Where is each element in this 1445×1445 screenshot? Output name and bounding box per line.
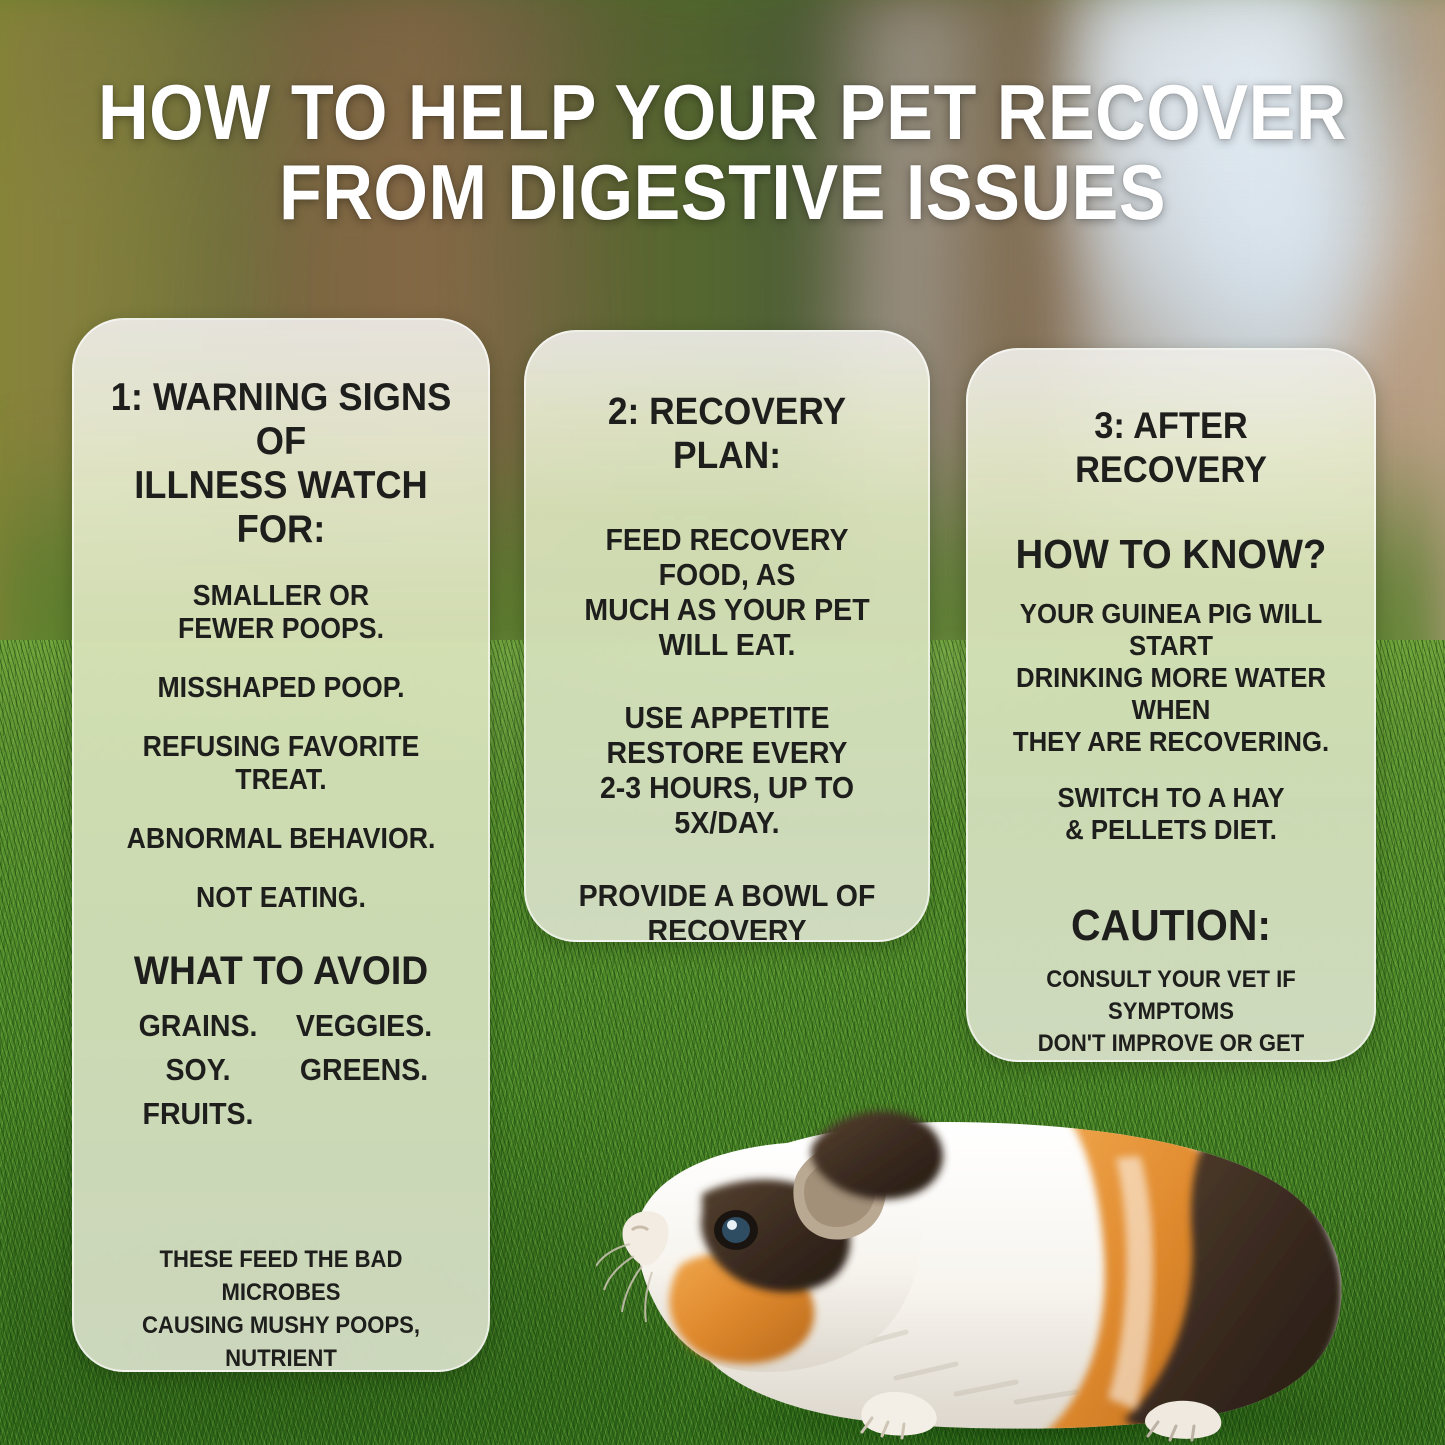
card-1-bullet-list: SMALLER OR FEWER POOPS. MISSHAPED POOP. … — [92, 580, 470, 915]
avoid-item: GRAINS. — [124, 1005, 271, 1047]
card-3-bullet-list: YOUR GUINEA PIG WILL START DRINKING MORE… — [986, 598, 1356, 846]
pig-eye-highlight — [727, 1220, 737, 1230]
avoid-item: VEGGIES. — [290, 1005, 437, 1047]
card-3-heading: 3: AFTER RECOVERY — [999, 404, 1343, 492]
list-item: SWITCH TO A HAY & PELLETS DIET. — [1001, 782, 1341, 846]
card-warning-signs: 1: WARNING SIGNS OF ILLNESS WATCH FOR: S… — [72, 318, 490, 1372]
card-2-bullet-list: FEED RECOVERY FOOD, AS MUCH AS YOUR PET … — [544, 522, 910, 942]
card-recovery-plan: 2: RECOVERY PLAN: FEED RECOVERY FOOD, AS… — [524, 330, 930, 942]
list-item: FEED RECOVERY FOOD, AS MUCH AS YOUR PET … — [559, 522, 896, 662]
list-item: NOT EATING. — [107, 882, 455, 915]
page-title-line-1: HOW TO HELP YOUR PET RECOVER — [72, 72, 1373, 152]
card-1-subheading: WHAT TO AVOID — [105, 949, 457, 993]
list-item: PROVIDE A BOWL OF RECOVERY FOOD OVERNIGH… — [559, 878, 896, 942]
card-2-heading: 2: RECOVERY PLAN: — [557, 390, 897, 478]
card-3-subheading: HOW TO KNOW? — [999, 532, 1343, 576]
list-item: ABNORMAL BEHAVIOR. — [107, 823, 455, 856]
card-after-recovery: 3: AFTER RECOVERY HOW TO KNOW? YOUR GUIN… — [966, 348, 1376, 1062]
avoid-item — [290, 1093, 437, 1135]
list-item: SMALLER OR FEWER POOPS. — [107, 580, 455, 646]
caution-heading: CAUTION: — [999, 902, 1343, 950]
page-title: HOW TO HELP YOUR PET RECOVER FROM DIGEST… — [72, 72, 1373, 232]
avoid-item: SOY. — [124, 1049, 271, 1091]
list-item: YOUR GUINEA PIG WILL START DRINKING MORE… — [1001, 598, 1341, 758]
page-title-line-2: FROM DIGESTIVE ISSUES — [72, 152, 1373, 232]
avoid-item: FRUITS. — [124, 1093, 271, 1135]
list-item: REFUSING FAVORITE TREAT. — [107, 731, 455, 797]
card-1-footnote: THESE FEED THE BAD MICROBES CAUSING MUSH… — [107, 1243, 455, 1372]
card-1-heading: 1: WARNING SIGNS OF ILLNESS WATCH FOR: — [105, 376, 457, 552]
list-item: USE APPETITE RESTORE EVERY 2-3 HOURS, UP… — [559, 700, 896, 840]
avoid-item: GREENS. — [290, 1049, 437, 1091]
guinea-pig-photo — [596, 1018, 1386, 1445]
list-item: MISSHAPED POOP. — [107, 672, 455, 705]
avoid-list: GRAINS. VEGGIES. SOY. GREENS. FRUITS. — [92, 1005, 470, 1135]
